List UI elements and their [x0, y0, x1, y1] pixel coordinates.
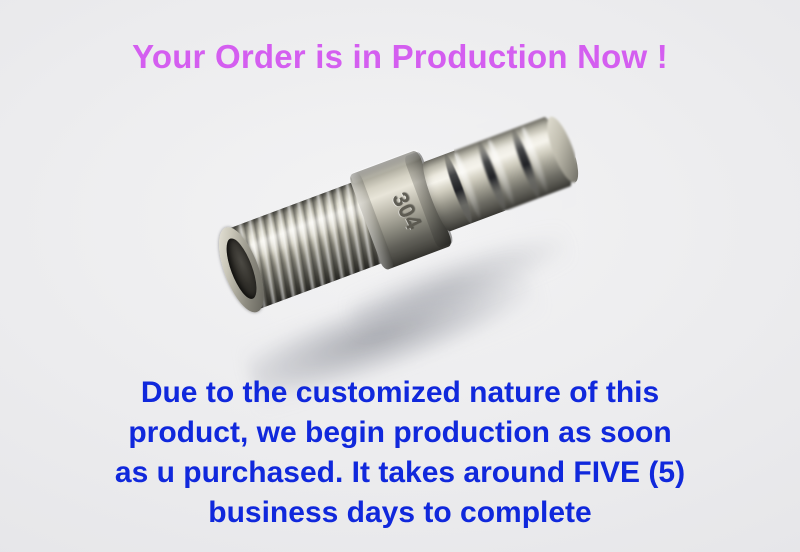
production-notice-banner: Your Order is in Production Now ! 304 [0, 0, 800, 552]
product-photo: 304 [225, 145, 595, 385]
notice-line: product, we begin production as soon [0, 413, 800, 453]
notice-body-text: Due to the customized nature of this pro… [0, 373, 800, 533]
page-title: Your Order is in Production Now ! [0, 38, 800, 76]
notice-line: as u purchased. It takes around FIVE (5) [0, 453, 800, 493]
notice-line: business days to complete [0, 493, 800, 533]
notice-line: Due to the customized nature of this [0, 373, 800, 413]
